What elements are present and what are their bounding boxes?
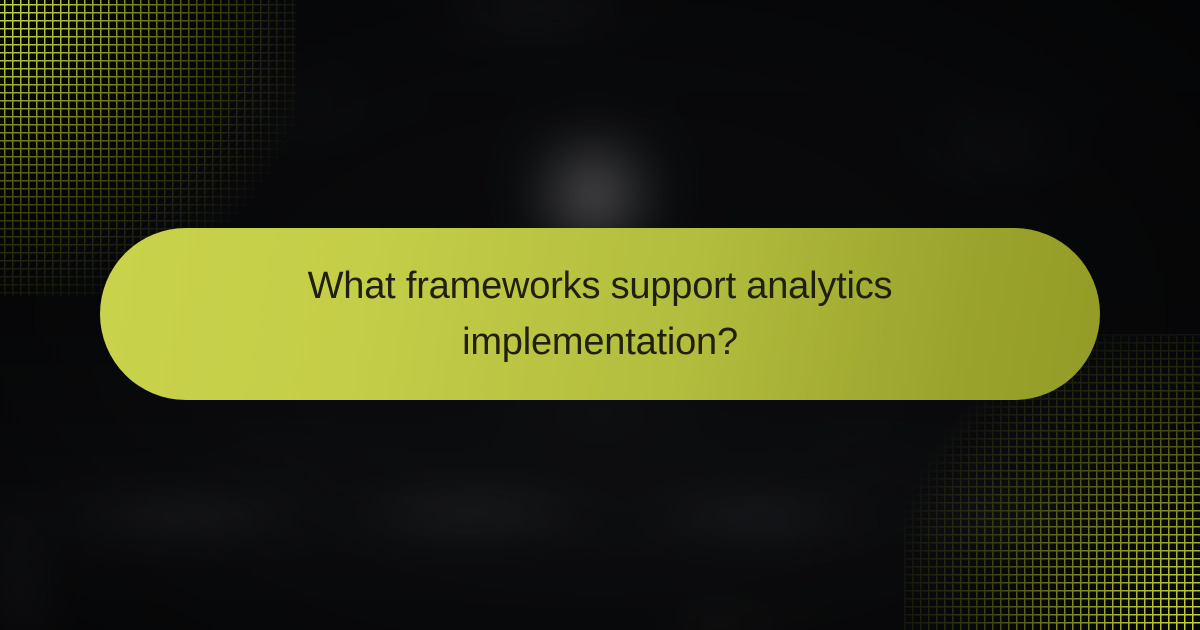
question-pill: What frameworks support analytics implem… [100,228,1100,400]
social-share-card: What frameworks support analytics implem… [0,0,1200,630]
question-text: What frameworks support analytics implem… [250,258,950,370]
